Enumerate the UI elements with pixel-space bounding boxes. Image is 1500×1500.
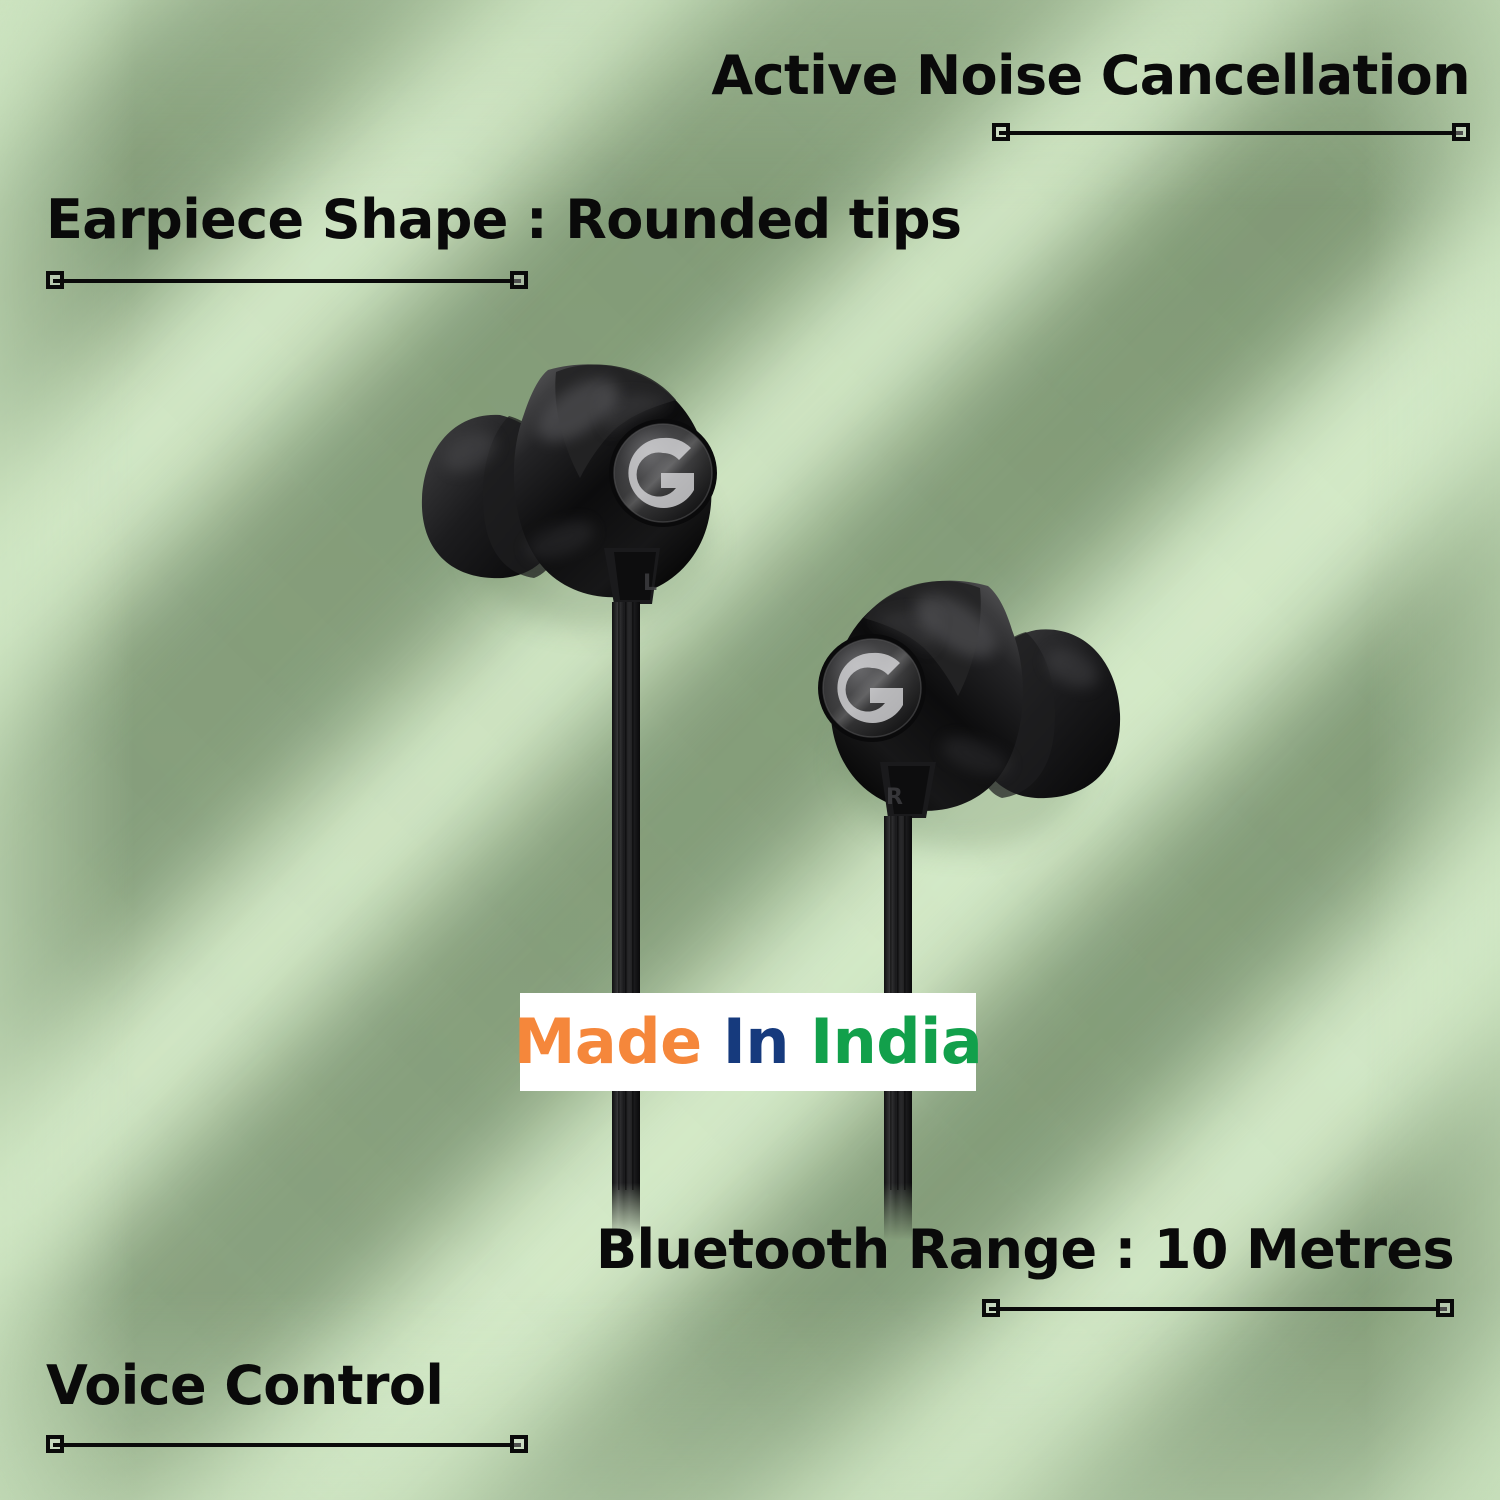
feature-earpiece-shape: Earpiece Shape : Rounded tips (46, 192, 961, 289)
feature-active-noise-cancellation: Active Noise Cancellation (711, 48, 1470, 141)
feature-underline-rule (46, 1435, 528, 1453)
made-in-india-badge: Made In India (520, 993, 976, 1091)
feature-label: Bluetooth Range : 10 Metres (596, 1222, 1454, 1279)
feature-underline-rule (46, 271, 528, 289)
rule-cap-right (1436, 1299, 1454, 1317)
rule-line (53, 1443, 521, 1447)
product-feature-graphic: L (0, 0, 1500, 1500)
rule-cap-right (510, 1435, 528, 1453)
left-earbud: L (422, 364, 717, 1240)
badge-word-in: In (723, 1011, 789, 1073)
feature-bluetooth-range: Bluetooth Range : 10 Metres (596, 1222, 1454, 1317)
rule-line (999, 131, 1463, 135)
feature-label: Earpiece Shape : Rounded tips (46, 192, 961, 249)
feature-underline-rule (982, 1299, 1454, 1317)
rule-cap-right (510, 271, 528, 289)
badge-word-india: India (810, 1011, 982, 1073)
feature-voice-control: Voice Control (46, 1358, 528, 1453)
feature-label: Voice Control (46, 1358, 528, 1415)
rule-cap-right (1452, 123, 1470, 141)
feature-label: Active Noise Cancellation (711, 48, 1470, 105)
rule-line (53, 279, 521, 283)
badge-space-2 (789, 1011, 810, 1073)
badge-word-made: Made (514, 1011, 702, 1073)
right-earbud: R (818, 581, 1120, 1240)
badge-space-1 (702, 1011, 723, 1073)
right-channel-mark: R (886, 785, 903, 810)
rule-line (989, 1307, 1447, 1311)
feature-underline-rule (992, 123, 1470, 141)
left-channel-mark: L (643, 571, 657, 596)
